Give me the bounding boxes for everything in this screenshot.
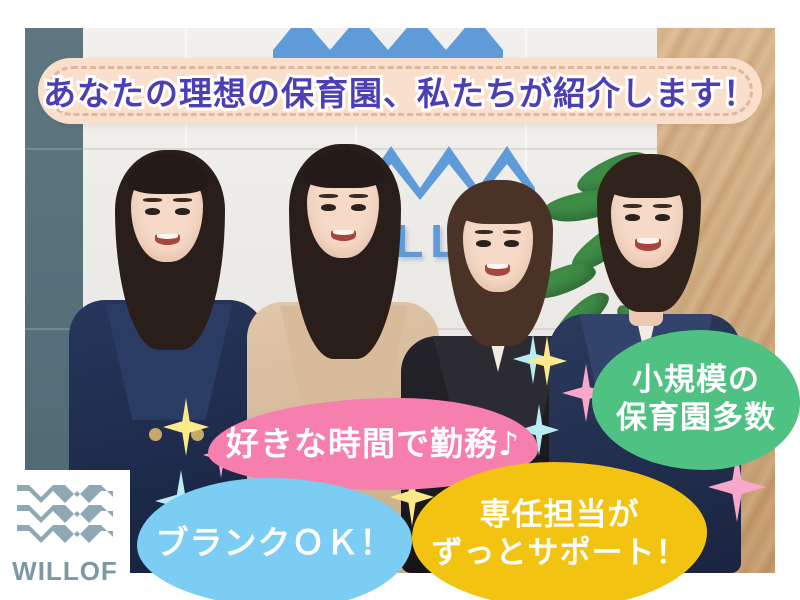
willof-logo-word: WILLOF [12,556,118,587]
person-2-brow [319,194,338,198]
person-4-eye [625,214,640,221]
bubble-dedicated-support-text: 専任担当が ずっとサポート！ [432,497,688,573]
bubble-dedicated-support[interactable]: 専任担当が ずっとサポート！ [412,462,707,600]
frame-top [0,0,800,28]
bubble-flexible-hours-text: 好きな時間で勤務♪ [226,424,520,464]
ad-banner-root: WILLOF [0,0,800,600]
bubble-blank-ok-text: ブランクＯＫ！ [156,523,394,563]
person-4-eye [655,214,670,221]
bubble-blank-ok[interactable]: ブランクＯＫ！ [137,478,412,600]
person-4-teeth [637,238,659,244]
person-1-teeth [157,234,178,239]
willof-logo[interactable]: WILLOF [0,470,130,600]
person-4-brow [653,204,672,208]
bubble-small-nurseries-line2: 保育園多数 [616,400,776,436]
person-1-eye [175,208,190,215]
person-1-button [149,428,162,441]
person-3-brow [475,230,493,234]
person-3-brow [503,230,521,234]
person-1-brow [143,198,162,202]
person-1-brow [173,198,192,202]
frame-right [775,0,800,600]
person-3-teeth [487,264,508,269]
person-3-eye [504,240,519,247]
bubble-dedicated-support-line2: ずっとサポート！ [432,535,688,571]
person-2-brow [349,194,368,198]
bubble-small-nurseries-text: 小規模の 保育園多数 [616,362,776,438]
person-4-brow [623,204,642,208]
bubble-small-nurseries[interactable]: 小規模の 保育園多数 [592,330,800,470]
wall-zigzag-top-icon [273,28,503,62]
headline-text: あなたの理想の保育園、私たちが紹介します！ [38,58,762,124]
person-2-eye [321,204,336,211]
person-3-eye [476,240,491,247]
willof-chevron-icon [17,483,113,550]
bubble-small-nurseries-line1: 小規模の [632,362,760,398]
person-2-eye [351,204,366,211]
bubble-dedicated-support-line1: 専任担当が [480,497,640,533]
person-1-eye [145,208,160,215]
headline-banner: あなたの理想の保育園、私たちが紹介します！ [38,58,762,124]
person-2-teeth [333,230,354,235]
